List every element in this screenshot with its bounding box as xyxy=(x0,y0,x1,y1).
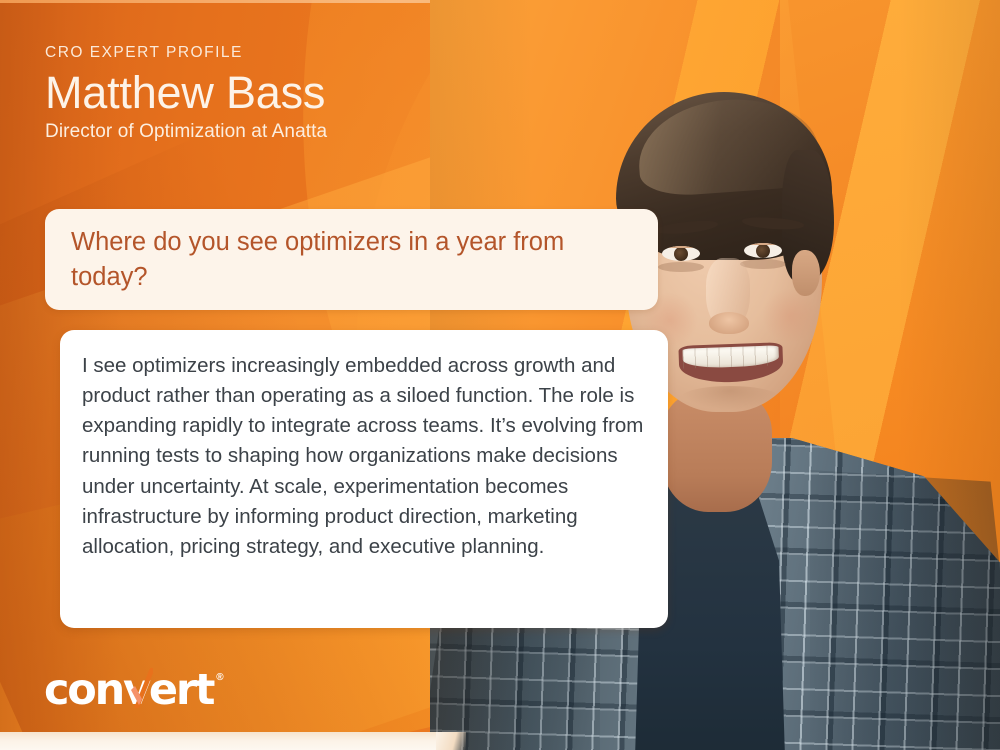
background-bottom-strip xyxy=(0,732,440,750)
answer-card: I see optimizers increasingly embedded a… xyxy=(60,330,668,628)
answer-text: I see optimizers increasingly embedded a… xyxy=(82,351,644,562)
profile-role: Director of Optimization at Anatta xyxy=(45,121,605,143)
iris-right xyxy=(756,244,770,258)
cheek-right xyxy=(762,288,818,344)
convert-logo-wordmark: convert xyxy=(44,669,213,712)
profile-header: CRO EXPERT PROFILE Matthew Bass Director… xyxy=(45,44,605,143)
question-card: Where do you see optimizers in a year fr… xyxy=(45,209,658,310)
teeth xyxy=(682,345,779,368)
convert-checkmark-wedge-icon xyxy=(131,668,153,708)
under-eye-right xyxy=(740,259,786,269)
iris-left xyxy=(674,247,688,261)
question-text: Where do you see optimizers in a year fr… xyxy=(45,225,658,293)
nose-tip xyxy=(709,312,749,334)
shirt-fold-right xyxy=(810,470,1000,750)
under-eye-left xyxy=(658,262,704,272)
profile-quote-slide: CRO EXPERT PROFILE Matthew Bass Director… xyxy=(0,0,1000,750)
eyelid-right xyxy=(744,243,782,245)
eyebrow-label: CRO EXPERT PROFILE xyxy=(45,44,605,62)
chin-shadow xyxy=(680,386,780,410)
eyelid-left xyxy=(662,246,700,248)
eye-left xyxy=(662,246,700,261)
page-title: Matthew Bass xyxy=(45,68,605,118)
eye-right xyxy=(744,243,782,258)
convert-logo[interactable]: convert ® xyxy=(44,669,224,712)
registered-trademark-mark: ® xyxy=(216,672,223,683)
